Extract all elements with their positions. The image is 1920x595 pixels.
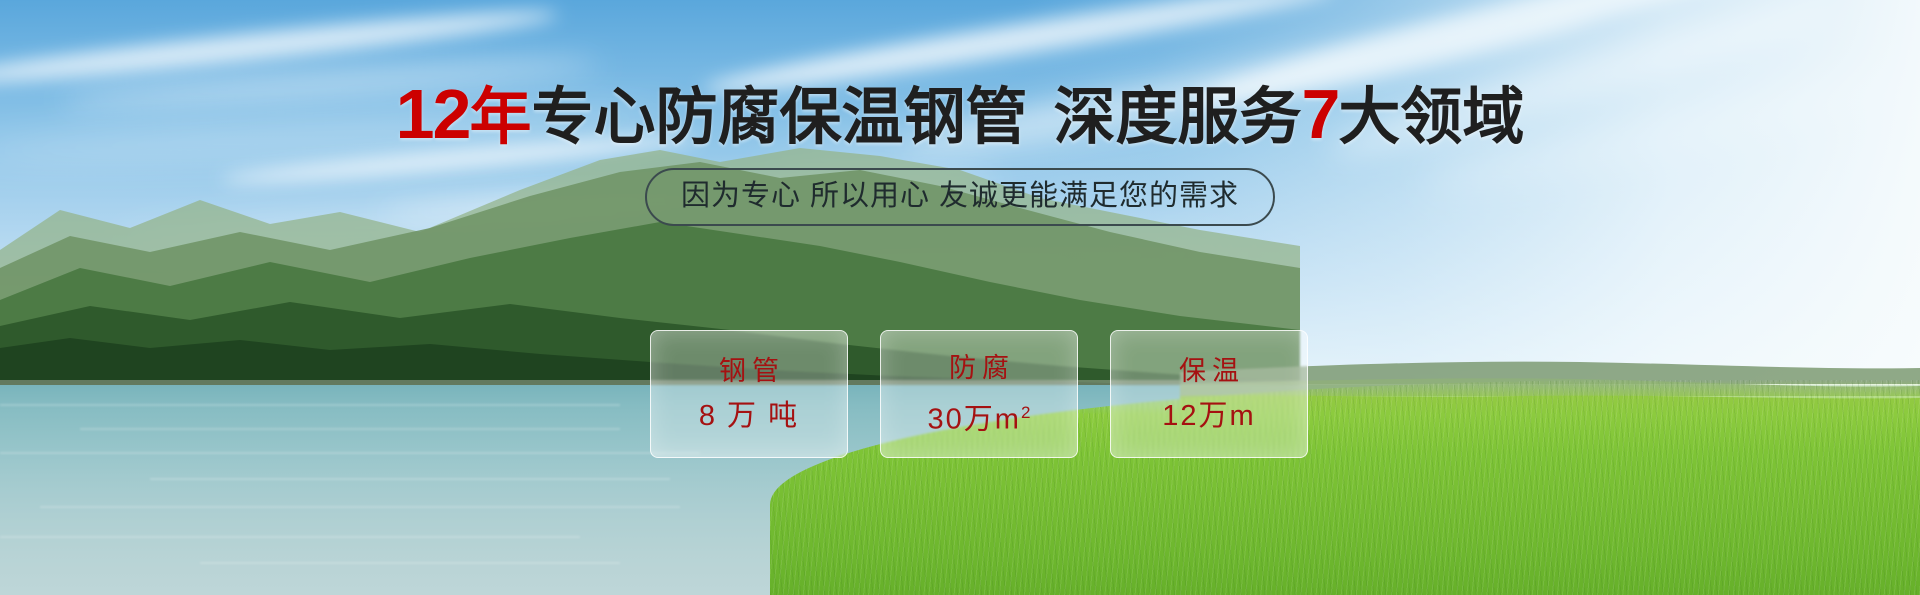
headline-years-number: 12 bbox=[396, 75, 470, 153]
stat-card-value: 8 万 吨 bbox=[699, 399, 799, 433]
headline-fields-number: 7 bbox=[1301, 75, 1338, 153]
subtitle-container: 因为专心 所以用心 友诚更能满足您的需求 bbox=[0, 168, 1920, 226]
stat-card-steel-pipe[interactable]: 钢管 8 万 吨 bbox=[650, 330, 848, 458]
stat-card-label: 钢管 bbox=[713, 355, 785, 387]
stat-card-label: 保温 bbox=[1173, 355, 1245, 387]
stat-cards: 钢管 8 万 吨 防腐 30万m2 保温 12万m bbox=[650, 330, 1308, 458]
subtitle-pill: 因为专心 所以用心 友诚更能满足您的需求 bbox=[645, 168, 1275, 226]
headline-main-text: 专心防腐保温钢管 bbox=[531, 83, 1027, 152]
stat-card-value: 12万m bbox=[1162, 399, 1255, 433]
headline: 12年专心防腐保温钢管深度服务7大领域 bbox=[0, 80, 1920, 152]
headline-fields-text: 大领域 bbox=[1338, 83, 1524, 152]
stat-card-anticorrosion[interactable]: 防腐 30万m2 bbox=[880, 330, 1078, 458]
headline-years-unit: 年 bbox=[469, 83, 531, 152]
stat-card-insulation[interactable]: 保温 12万m bbox=[1110, 330, 1308, 458]
stat-card-value: 30万m2 bbox=[928, 396, 1031, 437]
stat-card-label: 防腐 bbox=[943, 352, 1015, 384]
stat-card-unit-exponent: 2 bbox=[1021, 403, 1030, 422]
promo-banner: 12年专心防腐保温钢管深度服务7大领域 因为专心 所以用心 友诚更能满足您的需求… bbox=[0, 0, 1920, 595]
headline-service-text: 深度服务 bbox=[1053, 83, 1301, 152]
